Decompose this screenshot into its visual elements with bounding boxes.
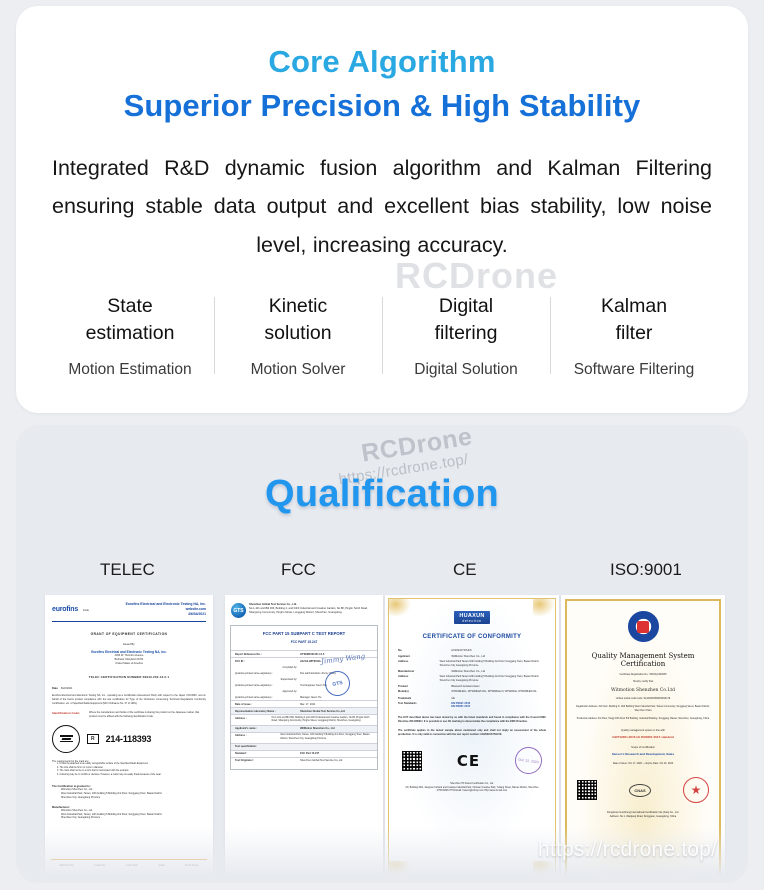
feature-column-kinetic-solution: Kinetic solution Motion Solver xyxy=(214,293,382,380)
ident-label: Identification Code: xyxy=(52,711,86,715)
certificate-image-iso[interactable]: Quality Management System Certification … xyxy=(561,595,725,883)
prod-addr-label: Production Address: xyxy=(577,718,598,720)
row-key: Applicant's name : xyxy=(235,727,297,730)
feature-title: State estimation xyxy=(50,293,210,346)
feature-title: Kalman filter xyxy=(554,293,714,346)
certificate-image-fcc[interactable]: GTS Shenzhen Global Test Service Co., Lt… xyxy=(225,595,383,883)
row-value: 2AZAX-WIT901CL xyxy=(300,660,321,663)
qualification-heading: Qualification xyxy=(16,473,748,516)
cert-title: CERTIFICATE OF CONFORMITY xyxy=(398,634,546,640)
row-key: Date of issue : xyxy=(235,703,297,706)
hero-title-line1: Core Algorithm xyxy=(16,46,748,79)
company-name: Witmotion Shenzhen Co.Ltd xyxy=(574,688,712,693)
qr-code xyxy=(402,751,422,771)
feature-subtitle: Motion Estimation xyxy=(50,360,210,380)
reg-no-label: Certificate Registration No.: xyxy=(620,673,649,676)
certificate-label-ce: CE xyxy=(453,560,477,580)
row-key: Applicant xyxy=(398,655,448,658)
row-value: HX20210727HFS xyxy=(451,649,471,652)
telec-mark-icon xyxy=(52,725,80,753)
lab-tag: E&E xyxy=(83,608,89,612)
footer-office: Austin xyxy=(158,864,165,867)
issued-by-label: Issued By: xyxy=(52,643,206,646)
row-key: FCC ID : xyxy=(235,660,297,663)
footer-office: Baltimore HQ xyxy=(60,864,74,867)
row-value: Shenzhen Global Test Service Co.,Ltd xyxy=(300,759,342,762)
row-value: West Industrial Park Tanwu 10th building… xyxy=(440,675,546,682)
row-key: Compiled by: xyxy=(235,666,297,669)
row-key: Address xyxy=(398,675,437,678)
huaxun-stamp-icon: Oct. 22, 2020 xyxy=(513,745,543,775)
uscc-value: 91440300359200813178 xyxy=(644,697,671,700)
row-value: WitMotion Shenzhen Co., Ltd xyxy=(451,670,485,673)
scope-title: Scope of Certification xyxy=(574,746,712,749)
row-key: Address xyxy=(398,660,437,663)
row-key: Address : xyxy=(235,717,269,720)
ce-mark-icon: CE xyxy=(457,752,480,770)
ctqc-emblem-icon xyxy=(628,611,659,642)
date-value: 6/22/2021 xyxy=(61,687,73,690)
cert-title: FCC PART 15 SUBPART C TEST REPORT xyxy=(231,631,377,636)
row-value: Bluetooth Accelerometer xyxy=(451,685,479,688)
row-key: (position+printed name+signature) : xyxy=(235,672,297,675)
hereby-text: Hereby certify that xyxy=(574,680,712,683)
cert-title: GRANT OF EQUIPMENT CERTIFICATION xyxy=(52,632,206,636)
ident-body: Where the manufacturer and holder of the… xyxy=(89,711,206,718)
certificate-labels: TELEC FCC CE ISO:9001 xyxy=(16,560,748,586)
feature-subtitle: Software Filtering xyxy=(554,360,714,380)
reg-addr: 3rd Floor, Building D, 10th Building Wes… xyxy=(599,706,710,712)
prod-addr: 3rd Floor, Tangji 10th Floor 5th Buildin… xyxy=(598,718,709,720)
iso-dates: Date of Issue: Oct 17, 2020 — Expire Dat… xyxy=(574,762,712,765)
ce-body-1: The EUT described above has been tested … xyxy=(398,716,546,724)
cert-title: Quality Management System Certification xyxy=(574,652,712,668)
r-mark-icon: R xyxy=(87,734,99,744)
row-key: Standard : xyxy=(235,752,297,755)
date-label: Date xyxy=(52,687,58,690)
row-key: Product xyxy=(398,685,448,688)
feature-title: Digital filtering xyxy=(386,293,546,346)
row-value: WitMotion Shenzhen Co., Ltd xyxy=(300,727,335,730)
issuer-address: No.1-101 and Bld 306, Building 2, and 3/… xyxy=(249,607,377,615)
feature-title: Kinetic solution xyxy=(218,293,378,346)
iso-footer-2: Address: No.1, Wanjiang Road, Dongguan, … xyxy=(574,815,712,819)
requirement-item: 4. Colouring may be in conflict or decis… xyxy=(57,774,206,778)
row-key: Representative Laboratory Name : xyxy=(235,710,297,713)
certificate-image-ce[interactable]: HUAXUN detection CERTIFICATE OF CONFORMI… xyxy=(385,595,559,883)
certificate-label-iso: ISO:9001 xyxy=(610,560,682,580)
feature-column-digital-filtering: Digital filtering Digital Solution xyxy=(382,293,550,380)
row-key: Manufacturer xyxy=(398,670,448,673)
issuer-date: 4/6/04/2021 xyxy=(126,612,206,617)
row-key: (position+printed name+signature) : xyxy=(235,696,297,699)
footer-office: Cedar City xyxy=(94,864,105,867)
hero-card: Core Algorithm Superior Precision & High… xyxy=(16,6,748,413)
certificate-gallery: eurofins E&E Eurofins Electrical and Ele… xyxy=(16,595,748,883)
row-value: West Industrial Park, Tanwu, 10th buildi… xyxy=(280,734,373,741)
row-value: WT901BLECL, WT901BLE5.0CL, WT901BLE2.0, … xyxy=(451,690,537,694)
qr-code xyxy=(577,780,597,800)
certificate-label-telec: TELEC xyxy=(100,560,155,580)
manufacturer-city: Shenzhen City, Guangdong Province xyxy=(61,816,206,820)
hero-paragraph: Integrated R&D dynamic fusion algorithm … xyxy=(52,149,712,264)
scope-value: Sensor's Research and Development, Sales xyxy=(574,752,712,756)
row-value: Test Engineer Kevin Tan xyxy=(300,684,327,687)
row-value: WitMotion Shenzhen Co., Ltd xyxy=(451,655,485,658)
eurofins-logo: eurofins xyxy=(52,606,78,613)
scope-label: Quality management system is line with xyxy=(574,729,712,732)
row-value: CE xyxy=(451,697,455,700)
feature-column-kalman-filter: Kalman filter Software Filtering xyxy=(550,293,718,380)
qualification-card: RCDrone https://rcdrone.top/ Qualificati… xyxy=(16,425,748,883)
row-key: Test Standards xyxy=(398,702,448,705)
reg-no: 548-Bj-0100005 xyxy=(649,673,666,676)
row-value: EN 55032: 2015 EN 55035: 2017 xyxy=(451,702,470,708)
row-key: No. xyxy=(398,649,448,652)
row-value: Mar. 17, 2021 xyxy=(300,703,315,706)
stamp-date: Oct. 22, 2020 xyxy=(518,757,539,764)
feature-subtitle: Digital Solution xyxy=(386,360,546,380)
reg-addr-label: Registration Address: xyxy=(576,706,598,708)
ce-detail-table: No. HX20210727HFS Applicant WitMotion Sh… xyxy=(398,649,546,708)
row-key: Address : xyxy=(235,734,277,737)
row-value: Manager Jason Hu xyxy=(300,696,321,699)
gts-logo-icon: GTS xyxy=(231,603,246,618)
certificate-image-telec[interactable]: eurofins E&E Eurofins Electrical and Ele… xyxy=(45,595,213,883)
iso-standard: GB/T19001-2016 idt ISO9001:2015 standard xyxy=(574,735,712,739)
huaxun-logo-icon: HUAXUN detection xyxy=(454,611,489,624)
uscc-label: Unified social credit code: xyxy=(616,697,643,700)
row-key: Model(s) xyxy=(398,690,448,693)
row-key: Test specification: xyxy=(235,745,297,748)
footer-office: Austin Park xyxy=(126,864,138,867)
feature-column-state-estimation: State estimation Motion Estimation xyxy=(46,293,214,380)
ce-footer-3: 0755-8298 27733 Email: huaxun@szhxjc.com… xyxy=(398,790,546,794)
fcc-detail-table: Report Reference No. : GTSEM15011B-1-5-5… xyxy=(231,650,377,764)
row-value: GTSEM15011B-1-5-5 xyxy=(300,653,324,656)
cnas-logo-icon: CNAS xyxy=(629,784,651,797)
row-value: Shenzhen Global Test Service Co.,Ltd xyxy=(300,710,345,713)
issuer-name: Shenzhen Global Test Service Co., Ltd. xyxy=(249,603,297,606)
feature-subtitle: Motion Solver xyxy=(218,360,378,380)
row-key: Supervised by: xyxy=(235,678,297,681)
row-key: Test Originator : xyxy=(235,759,297,762)
footer-office: South Korea xyxy=(185,864,198,867)
huaxun-logo-text: HUAXUN xyxy=(459,613,484,619)
row-value: No.1-101 and Bld 306, Building 2 and 3/2… xyxy=(272,717,373,724)
hero-title-line2: Superior Precision & High Stability xyxy=(16,90,748,123)
issuer-addr-3: United States of America xyxy=(52,662,206,666)
telec-doc-line: TELEC CERTIFICATION NUMBER 09940.202.13.… xyxy=(52,675,206,679)
row-value: FCC Part 15.247 xyxy=(300,752,319,755)
certificate-number: 214-118393 xyxy=(106,734,152,744)
ce-body-2: The certificate applies to the tested sa… xyxy=(398,729,546,737)
official-seal-icon: ★ xyxy=(683,777,709,803)
huaxun-logo-sub: detection xyxy=(459,619,484,623)
applicant-city: Shenzhen City, Guangdong Province xyxy=(61,796,206,800)
telec-body: Eurofins Electrical and Electronic Testi… xyxy=(52,694,206,705)
row-key: (position+printed name+signature) : xyxy=(235,684,297,687)
cert-subtitle: FCC PART 15.247 xyxy=(231,640,377,644)
certificate-label-fcc: FCC xyxy=(281,560,316,580)
row-value: West Industrial Park Tanwu 10th building… xyxy=(440,660,546,667)
row-key: Trademark xyxy=(398,697,448,700)
feature-columns: State estimation Motion Estimation Kinet… xyxy=(46,293,718,380)
row-key: Report Reference No. : xyxy=(235,653,297,656)
row-key: Approved by: xyxy=(235,690,297,693)
